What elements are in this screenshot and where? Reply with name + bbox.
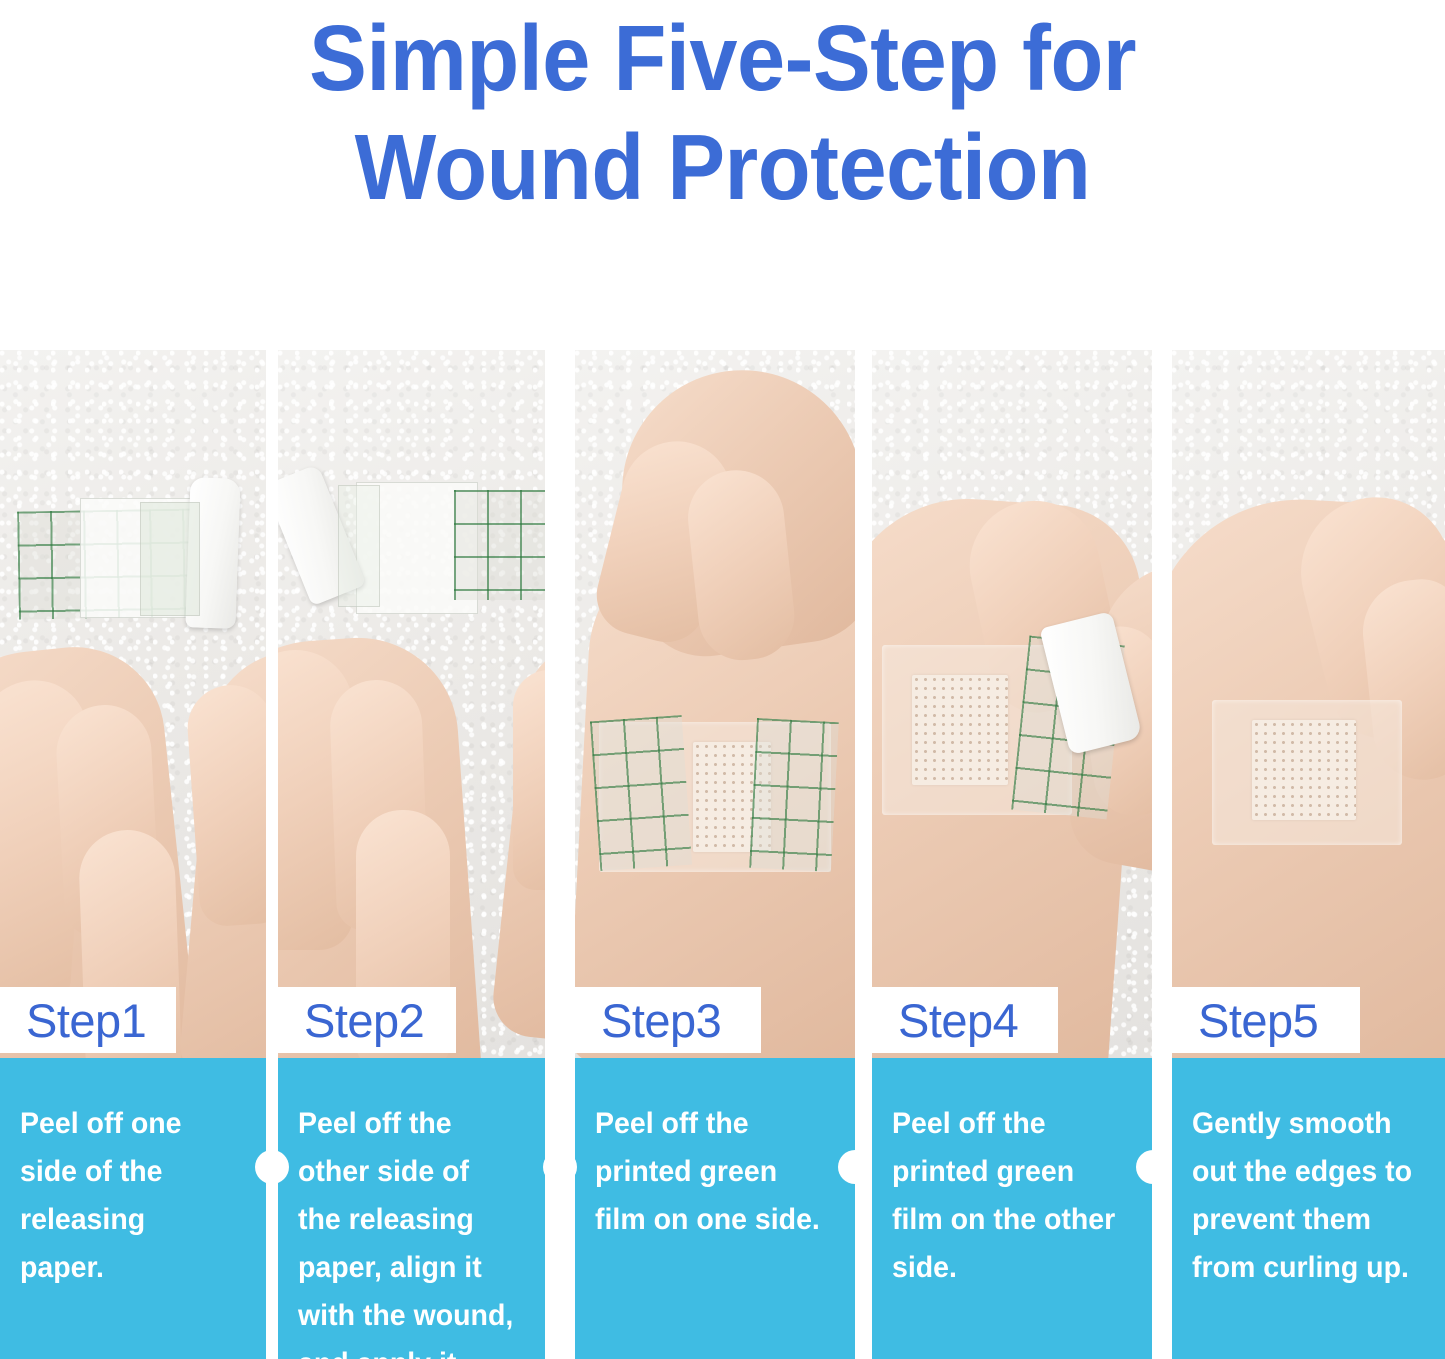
step-caption-text-1: Peel off one side of the releasing paper… xyxy=(20,1100,235,1292)
absorbent-pad xyxy=(1252,720,1356,820)
step-label-3: Step3 xyxy=(575,997,721,1044)
step-caption-block-4: Peel off the printed green film on the o… xyxy=(872,1058,1152,1359)
step-column-5: Step5 Gently smooth out the edges to pre… xyxy=(1172,350,1445,1359)
step-caption-text-4: Peel off the printed green film on the o… xyxy=(892,1100,1120,1292)
step-label-4: Step4 xyxy=(872,997,1018,1044)
step-column-4: Step4 Peel off the printed green film on… xyxy=(872,350,1152,1359)
step-label-band-3: Step3 xyxy=(575,987,761,1053)
step-photo-4 xyxy=(872,350,1152,1058)
step-label-2: Step2 xyxy=(278,997,424,1044)
step-caption-block-2: Peel off the other side of the releasing… xyxy=(278,1058,545,1359)
step-caption-text-5: Gently smooth out the edges to prevent t… xyxy=(1192,1100,1413,1292)
step-photo-5 xyxy=(1172,350,1445,1058)
step-column-3: Step3 Peel off the printed green film on… xyxy=(575,350,855,1359)
step-photo-3 xyxy=(575,350,855,1058)
dressing-edge-highlight xyxy=(338,485,380,607)
steps-board: Step1 Peel off one side of the releasing… xyxy=(0,350,1445,1359)
step-column-2: Step2 Peel off the other side of the rel… xyxy=(278,350,545,1359)
step-label-5: Step5 xyxy=(1172,997,1318,1044)
green-printed-film-right xyxy=(749,718,839,872)
step-connector-dot-1-2 xyxy=(255,1150,289,1184)
step-caption-block-5: Gently smooth out the edges to prevent t… xyxy=(1172,1058,1445,1359)
step-photo-1 xyxy=(0,350,266,1058)
step-label-1: Step1 xyxy=(0,997,146,1044)
absorbent-pad xyxy=(912,675,1008,785)
right-thumb xyxy=(513,670,545,890)
page-title: Simple Five-Step for Wound Protection xyxy=(0,0,1445,232)
green-printed-film-left xyxy=(590,715,692,871)
transparent-dressing-film xyxy=(454,490,545,600)
step-label-band-2: Step2 xyxy=(278,987,456,1053)
step-label-band-5: Step5 xyxy=(1172,987,1360,1053)
step-photo-2 xyxy=(278,350,545,1058)
step-column-1: Step1 Peel off one side of the releasing… xyxy=(0,350,266,1359)
page-title-line-2: Wound Protection xyxy=(355,113,1091,222)
step-connector-dot-4-5 xyxy=(1136,1150,1170,1184)
step-caption-block-3: Peel off the printed green film on one s… xyxy=(575,1058,855,1359)
step-connector-dot-2-3 xyxy=(543,1150,577,1184)
step-label-band-1: Step1 xyxy=(0,987,176,1053)
step-caption-block-1: Peel off one side of the releasing paper… xyxy=(0,1058,266,1359)
dressing-edge-highlight xyxy=(140,502,200,616)
step-connector-dot-3-4 xyxy=(838,1150,872,1184)
step-caption-text-2: Peel off the other side of the releasing… xyxy=(298,1100,514,1359)
step-caption-text-3: Peel off the printed green film on one s… xyxy=(595,1100,823,1244)
step-label-band-4: Step4 xyxy=(872,987,1058,1053)
page-title-line-1: Simple Five-Step for xyxy=(309,4,1136,113)
